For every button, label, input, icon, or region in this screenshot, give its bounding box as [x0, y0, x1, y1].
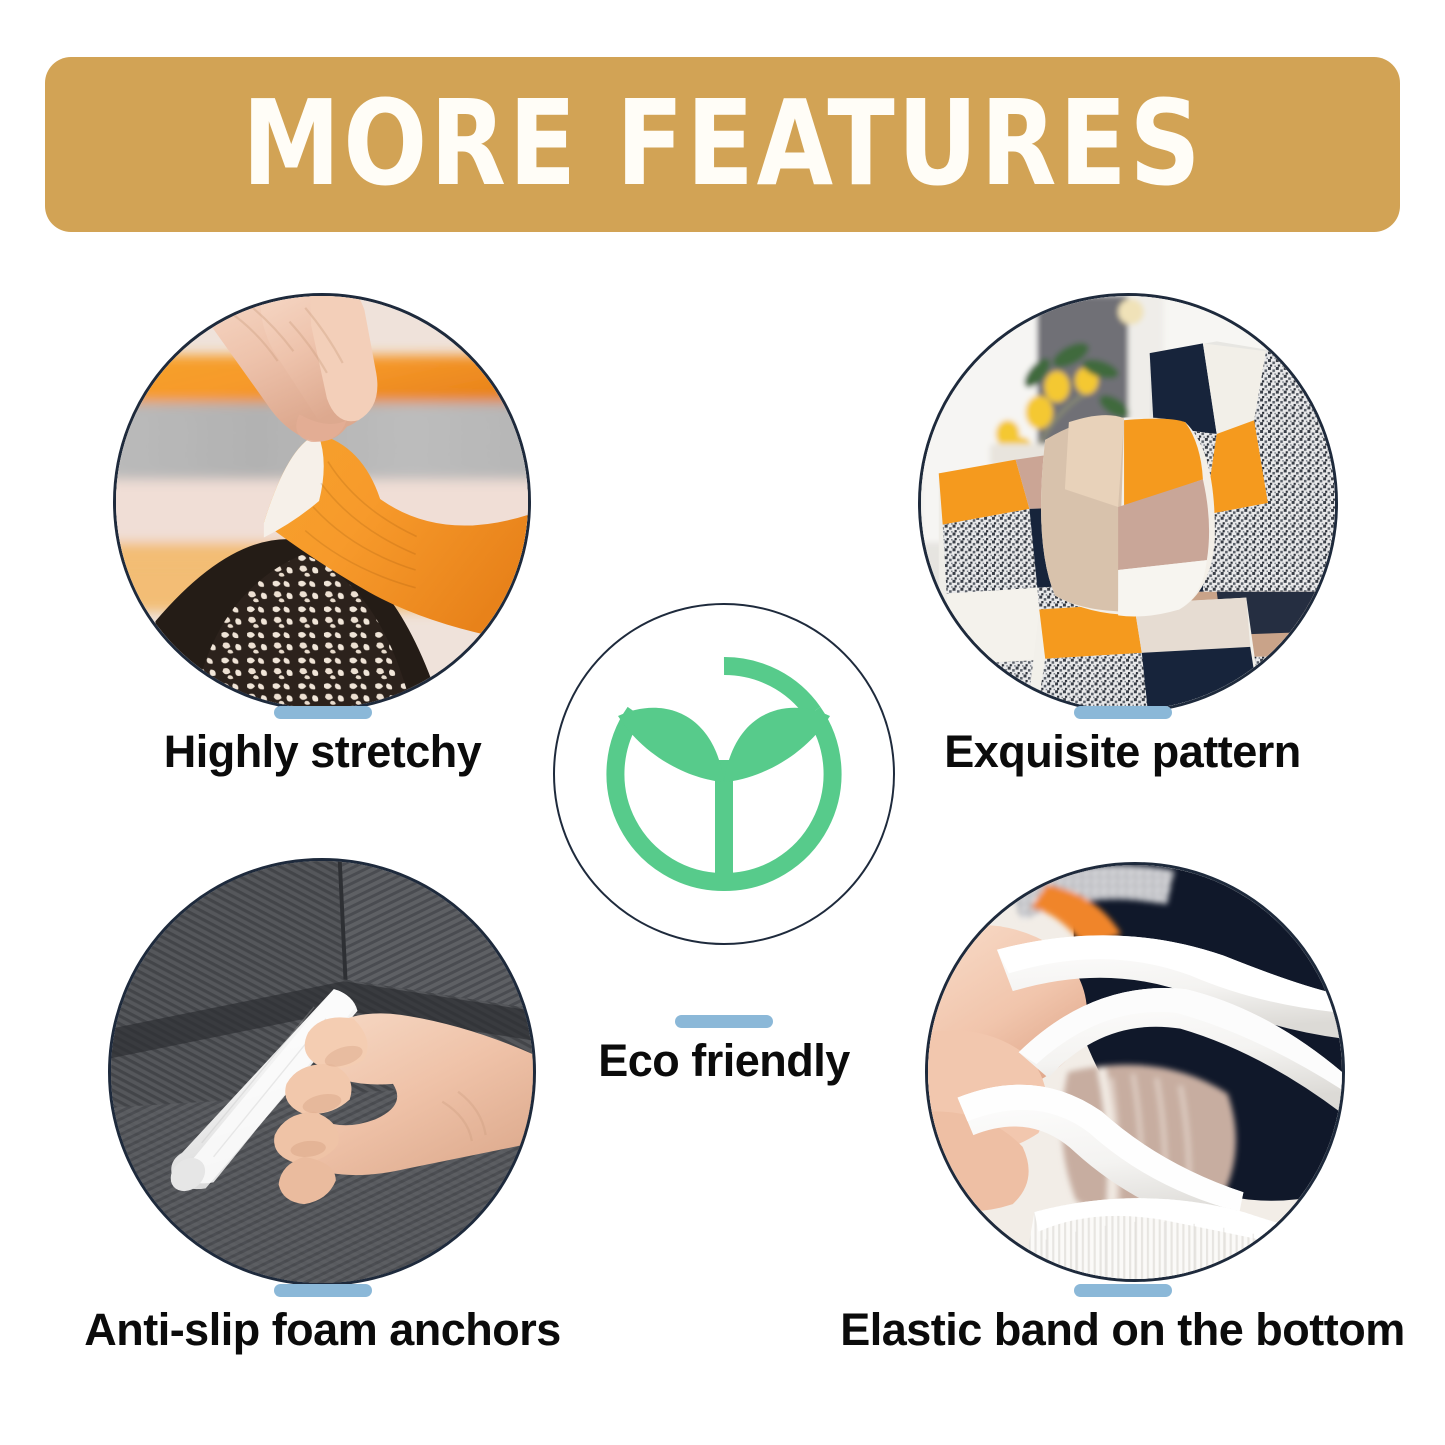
feature-label-elastic-band: Elastic band on the bottom	[840, 1306, 1405, 1353]
feature-label-highly-stretchy: Highly stretchy	[164, 728, 482, 775]
header-banner: MORE FEATURES	[45, 57, 1400, 232]
accent-bar-elastic-band	[1074, 1284, 1172, 1297]
stretch-fabric-illustration	[116, 296, 528, 708]
label-group-highly-stretchy: Highly stretchy	[0, 706, 645, 775]
patterned-sofa-illustration	[921, 296, 1335, 710]
feature-label-eco-friendly: Eco friendly	[598, 1037, 850, 1084]
accent-bar-highly-stretchy	[274, 706, 372, 719]
label-group-anti-slip-foam-anchors: Anti-slip foam anchors	[0, 1284, 645, 1353]
foam-anchor-illustration	[111, 861, 533, 1283]
photo-elastic-band-image	[928, 865, 1342, 1279]
eco-label-stack: Eco friendly	[553, 1015, 895, 1084]
photo-elastic-band	[925, 862, 1345, 1282]
page-title: MORE FEATURES	[242, 84, 1203, 202]
photo-exquisite-pattern	[918, 293, 1338, 713]
photo-highly-stretchy-image	[116, 296, 528, 708]
photo-anti-slip-foam-anchors	[108, 858, 536, 1286]
accent-bar-anti-slip-foam-anchors	[274, 1284, 372, 1297]
label-group-elastic-band: Elastic band on the bottom	[800, 1284, 1445, 1353]
accent-bar-eco-friendly	[675, 1015, 773, 1028]
photo-highly-stretchy	[113, 293, 531, 711]
label-group-exquisite-pattern: Exquisite pattern	[800, 706, 1445, 775]
feature-label-exquisite-pattern: Exquisite pattern	[944, 728, 1301, 775]
label-group-eco-friendly: Eco friendly	[553, 1015, 895, 1084]
photo-exquisite-pattern-image	[921, 296, 1335, 710]
accent-bar-exquisite-pattern	[1074, 706, 1172, 719]
eco-sprout-icon	[598, 648, 850, 900]
feature-label-anti-slip-foam-anchors: Anti-slip foam anchors	[84, 1306, 561, 1353]
elastic-band-illustration	[928, 865, 1342, 1279]
photo-anti-slip-foam-anchors-image	[111, 861, 533, 1283]
eco-friendly-badge	[553, 603, 895, 945]
